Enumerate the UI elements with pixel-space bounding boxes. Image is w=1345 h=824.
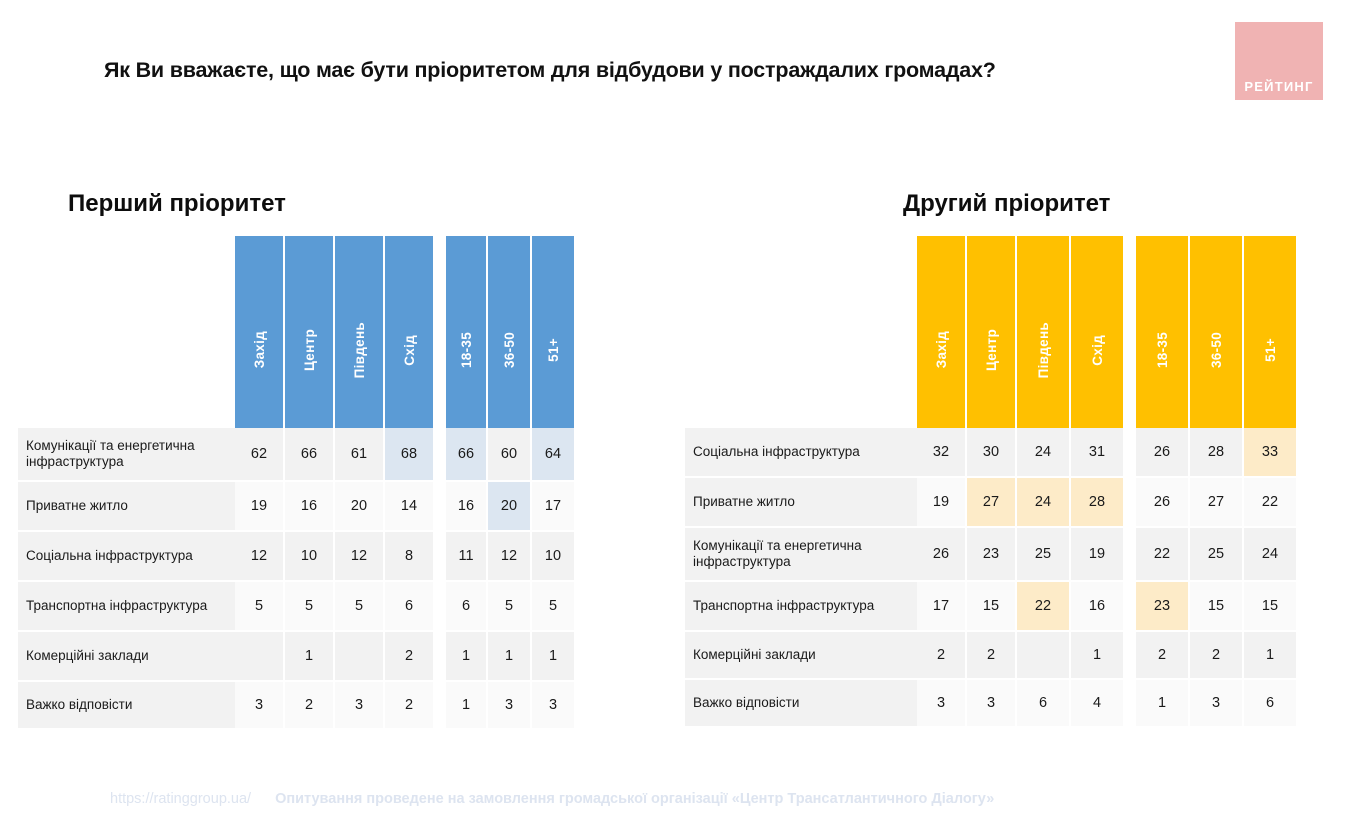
table-cell: 1 (285, 632, 333, 680)
table-cell: 6 (446, 582, 486, 630)
table-cell: 19 (1071, 528, 1123, 580)
table-cell: 31 (1071, 428, 1123, 476)
cell-group-gap (433, 532, 446, 580)
logo-label: РЕЙТИНГ (1235, 79, 1323, 94)
cell-group-region: 5556 (235, 582, 433, 630)
cell-group-gap (1123, 428, 1136, 476)
table-cell: 22 (1136, 528, 1188, 580)
row-label: Транспортна інфраструктура (685, 582, 917, 630)
table-cell: 26 (917, 528, 965, 580)
table-cell: 19 (235, 482, 283, 530)
column-header: Центр (967, 236, 1015, 428)
slide-root: РЕЙТИНГ Як Ви вважаєте, що має бути пріо… (0, 0, 1345, 824)
cell-group-gap (1123, 632, 1136, 678)
cell-group-age: 262833 (1136, 428, 1296, 476)
table-cell: 3 (235, 682, 283, 728)
column-header: 36-50 (1190, 236, 1242, 428)
table-row: Приватне житло19272428262722 (685, 478, 1320, 526)
cell-group-region: 17152216 (917, 582, 1123, 630)
row-label: Комерційні заклади (18, 632, 235, 680)
table-row: Комерційні заклади12111 (18, 632, 598, 680)
table-cell: 2 (1190, 632, 1242, 678)
table-cell: 20 (335, 482, 383, 530)
data-table-first: Комунікації та енергетична інфраструктур… (18, 428, 598, 728)
column-header: Схід (1071, 236, 1123, 428)
row-label: Соціальна інфраструктура (685, 428, 917, 476)
table-cell: 10 (532, 532, 574, 580)
column-header-label: 36-50 (1209, 332, 1224, 368)
table-cell: 28 (1190, 428, 1242, 476)
cell-group-age: 162017 (446, 482, 574, 530)
table-cell: 24 (1017, 428, 1069, 476)
data-table-second: Соціальна інфраструктура32302431262833Пр… (685, 428, 1320, 726)
table-cell: 1 (1136, 680, 1188, 726)
cell-group-region: 62666168 (235, 428, 433, 480)
header-group-region: ЗахідЦентрПівденьСхід (917, 236, 1123, 428)
cell-group-age: 655 (446, 582, 574, 630)
cell-group-region: 32302431 (917, 428, 1123, 476)
column-header: 18-35 (446, 236, 486, 428)
table-cell: 4 (1071, 680, 1123, 726)
table-cell: 14 (385, 482, 433, 530)
table-cell: 1 (1071, 632, 1123, 678)
header-group-age: 18-3536-5051+ (1136, 236, 1296, 428)
table-cell: 25 (1190, 528, 1242, 580)
cell-group-gap (1123, 478, 1136, 526)
cell-group-age: 111210 (446, 532, 574, 580)
table-cell: 12 (335, 532, 383, 580)
table-cell: 62 (235, 428, 283, 480)
cell-group-region: 3232 (235, 682, 433, 728)
table-cell (335, 632, 383, 680)
table-row: Комунікації та енергетична інфраструктур… (685, 528, 1320, 580)
table-cell: 5 (532, 582, 574, 630)
panel-title-second: Другий пріоритет (903, 190, 1110, 218)
table-cell: 2 (285, 682, 333, 728)
header-group-age: 18-3536-5051+ (446, 236, 574, 428)
table-cell: 26 (1136, 428, 1188, 476)
table-cell: 26 (1136, 478, 1188, 526)
footer-url[interactable]: https://ratinggroup.ua/ (110, 791, 251, 807)
row-label: Приватне житло (18, 482, 235, 530)
column-header: Південь (1017, 236, 1069, 428)
table-cell: 1 (1244, 632, 1296, 678)
table-cell: 10 (285, 532, 333, 580)
table-cell: 1 (532, 632, 574, 680)
cell-group-gap (433, 428, 446, 480)
cell-group-age: 133 (446, 682, 574, 728)
row-label: Комерційні заклади (685, 632, 917, 678)
table-cell: 3 (1190, 680, 1242, 726)
cell-group-region: 19272428 (917, 478, 1123, 526)
table-cell: 16 (446, 482, 486, 530)
table-row: Соціальна інфраструктура32302431262833 (685, 428, 1320, 476)
table-row: Важко відповісти3232133 (18, 682, 598, 728)
column-header-label: Схід (402, 335, 417, 366)
cell-group-age: 221 (1136, 632, 1296, 678)
rating-group-logo: РЕЙТИНГ (1235, 22, 1323, 100)
table-cell-highlighted: 27 (967, 478, 1015, 526)
table-cell (1017, 632, 1069, 678)
cell-group-gap (1123, 528, 1136, 580)
column-header-label: Центр (302, 329, 317, 371)
cell-group-gap (433, 582, 446, 630)
table-cell (235, 632, 283, 680)
table-cell: 30 (967, 428, 1015, 476)
column-header: Південь (335, 236, 383, 428)
row-label: Комунікації та енергетична інфраструктур… (18, 428, 235, 480)
header-group-gap (1123, 236, 1136, 428)
cell-group-age: 222524 (1136, 528, 1296, 580)
cell-group-gap (1123, 582, 1136, 630)
row-label: Комунікації та енергетична інфраструктур… (685, 528, 917, 580)
table-cell-highlighted: 28 (1071, 478, 1123, 526)
table-cell: 6 (1017, 680, 1069, 726)
row-label: Транспортна інфраструктура (18, 582, 235, 630)
cell-group-region: 19162014 (235, 482, 433, 530)
cell-group-age: 231515 (1136, 582, 1296, 630)
table-cell: 3 (532, 682, 574, 728)
cell-group-region: 3364 (917, 680, 1123, 726)
cell-group-age: 111 (446, 632, 574, 680)
table-cell: 2 (385, 632, 433, 680)
table-cell: 16 (285, 482, 333, 530)
table-cell: 2 (967, 632, 1015, 678)
cell-group-region: 12 (235, 632, 433, 680)
cell-group-region: 221 (917, 632, 1123, 678)
table-cell: 61 (335, 428, 383, 480)
table-cell-highlighted: 22 (1017, 582, 1069, 630)
table-cell-highlighted: 68 (385, 428, 433, 480)
table-cell: 25 (1017, 528, 1069, 580)
table-cell: 2 (1136, 632, 1188, 678)
column-header: Центр (285, 236, 333, 428)
column-header: 36-50 (488, 236, 530, 428)
table-cell: 32 (917, 428, 965, 476)
cell-group-gap (433, 632, 446, 680)
column-header: 51+ (532, 236, 574, 428)
table-row: Приватне житло19162014162017 (18, 482, 598, 530)
cell-group-region: 26232519 (917, 528, 1123, 580)
table-cell: 2 (917, 632, 965, 678)
table-cell: 5 (285, 582, 333, 630)
column-header-label: 18-35 (1155, 332, 1170, 368)
column-header-label: Схід (1090, 335, 1105, 366)
column-header-label: Південь (1036, 322, 1051, 378)
table-cell: 17 (532, 482, 574, 530)
column-header: Схід (385, 236, 433, 428)
table-cell: 27 (1190, 478, 1242, 526)
row-label: Важко відповісти (685, 680, 917, 726)
table-cell: 2 (385, 682, 433, 728)
column-header-label: Захід (934, 331, 949, 368)
table-cell: 15 (1244, 582, 1296, 630)
table-cell: 3 (917, 680, 965, 726)
table-cell: 5 (488, 582, 530, 630)
column-header-label: 51+ (1263, 338, 1278, 362)
table-cell: 23 (967, 528, 1015, 580)
cell-group-gap (1123, 680, 1136, 726)
table-cell: 17 (917, 582, 965, 630)
panel-title-first: Перший пріоритет (68, 190, 286, 218)
cell-group-gap (433, 682, 446, 728)
table-cell-highlighted: 24 (1017, 478, 1069, 526)
table-cell: 15 (967, 582, 1015, 630)
table-cell: 3 (335, 682, 383, 728)
table-cell: 1 (446, 632, 486, 680)
table-cell: 60 (488, 428, 530, 480)
row-label: Важко відповісти (18, 682, 235, 728)
table-cell: 6 (385, 582, 433, 630)
cell-group-age: 136 (1136, 680, 1296, 726)
footer: https://ratinggroup.ua/ Опитування прове… (110, 791, 994, 807)
table-cell: 3 (488, 682, 530, 728)
table-cell-highlighted: 23 (1136, 582, 1188, 630)
cell-group-gap (433, 482, 446, 530)
table-cell: 11 (446, 532, 486, 580)
cell-group-age: 666064 (446, 428, 574, 480)
table-cell: 22 (1244, 478, 1296, 526)
table-cell: 5 (335, 582, 383, 630)
table-cell: 12 (235, 532, 283, 580)
table-cell-highlighted: 64 (532, 428, 574, 480)
table-cell: 24 (1244, 528, 1296, 580)
column-header-label: 18-35 (459, 332, 474, 368)
table-row: Важко відповісти3364136 (685, 680, 1320, 726)
table-cell: 5 (235, 582, 283, 630)
row-label: Приватне житло (685, 478, 917, 526)
table-row: Комерційні заклади221221 (685, 632, 1320, 678)
column-header-label: 36-50 (502, 332, 517, 368)
column-header: Захід (917, 236, 965, 428)
header-group-gap (433, 236, 446, 428)
table-cell-highlighted: 66 (446, 428, 486, 480)
column-headers-second: ЗахідЦентрПівденьСхід18-3536-5051+ (917, 236, 1296, 428)
table-row: Комунікації та енергетична інфраструктур… (18, 428, 598, 480)
page-title: Як Ви вважаєте, що має бути пріоритетом … (104, 58, 1154, 83)
row-label: Соціальна інфраструктура (18, 532, 235, 580)
table-cell: 66 (285, 428, 333, 480)
table-row: Транспортна інфраструктура17152216231515 (685, 582, 1320, 630)
table-row: Соціальна інфраструктура1210128111210 (18, 532, 598, 580)
table-cell: 1 (488, 632, 530, 680)
table-cell-highlighted: 33 (1244, 428, 1296, 476)
cell-group-age: 262722 (1136, 478, 1296, 526)
header-group-region: ЗахідЦентрПівденьСхід (235, 236, 433, 428)
column-header-label: Центр (984, 329, 999, 371)
column-header-label: Південь (352, 322, 367, 378)
table-cell: 15 (1190, 582, 1242, 630)
footer-note: Опитування проведене на замовлення грома… (275, 791, 994, 807)
column-header: 51+ (1244, 236, 1296, 428)
table-row: Транспортна інфраструктура5556655 (18, 582, 598, 630)
table-cell: 1 (446, 682, 486, 728)
column-header: Захід (235, 236, 283, 428)
column-headers-first: ЗахідЦентрПівденьСхід18-3536-5051+ (235, 236, 574, 428)
table-cell: 6 (1244, 680, 1296, 726)
column-header: 18-35 (1136, 236, 1188, 428)
column-header-label: 51+ (546, 338, 561, 362)
table-cell: 12 (488, 532, 530, 580)
table-cell-highlighted: 20 (488, 482, 530, 530)
table-cell: 16 (1071, 582, 1123, 630)
table-cell: 8 (385, 532, 433, 580)
table-cell: 19 (917, 478, 965, 526)
table-cell: 3 (967, 680, 1015, 726)
cell-group-region: 1210128 (235, 532, 433, 580)
column-header-label: Захід (252, 331, 267, 368)
